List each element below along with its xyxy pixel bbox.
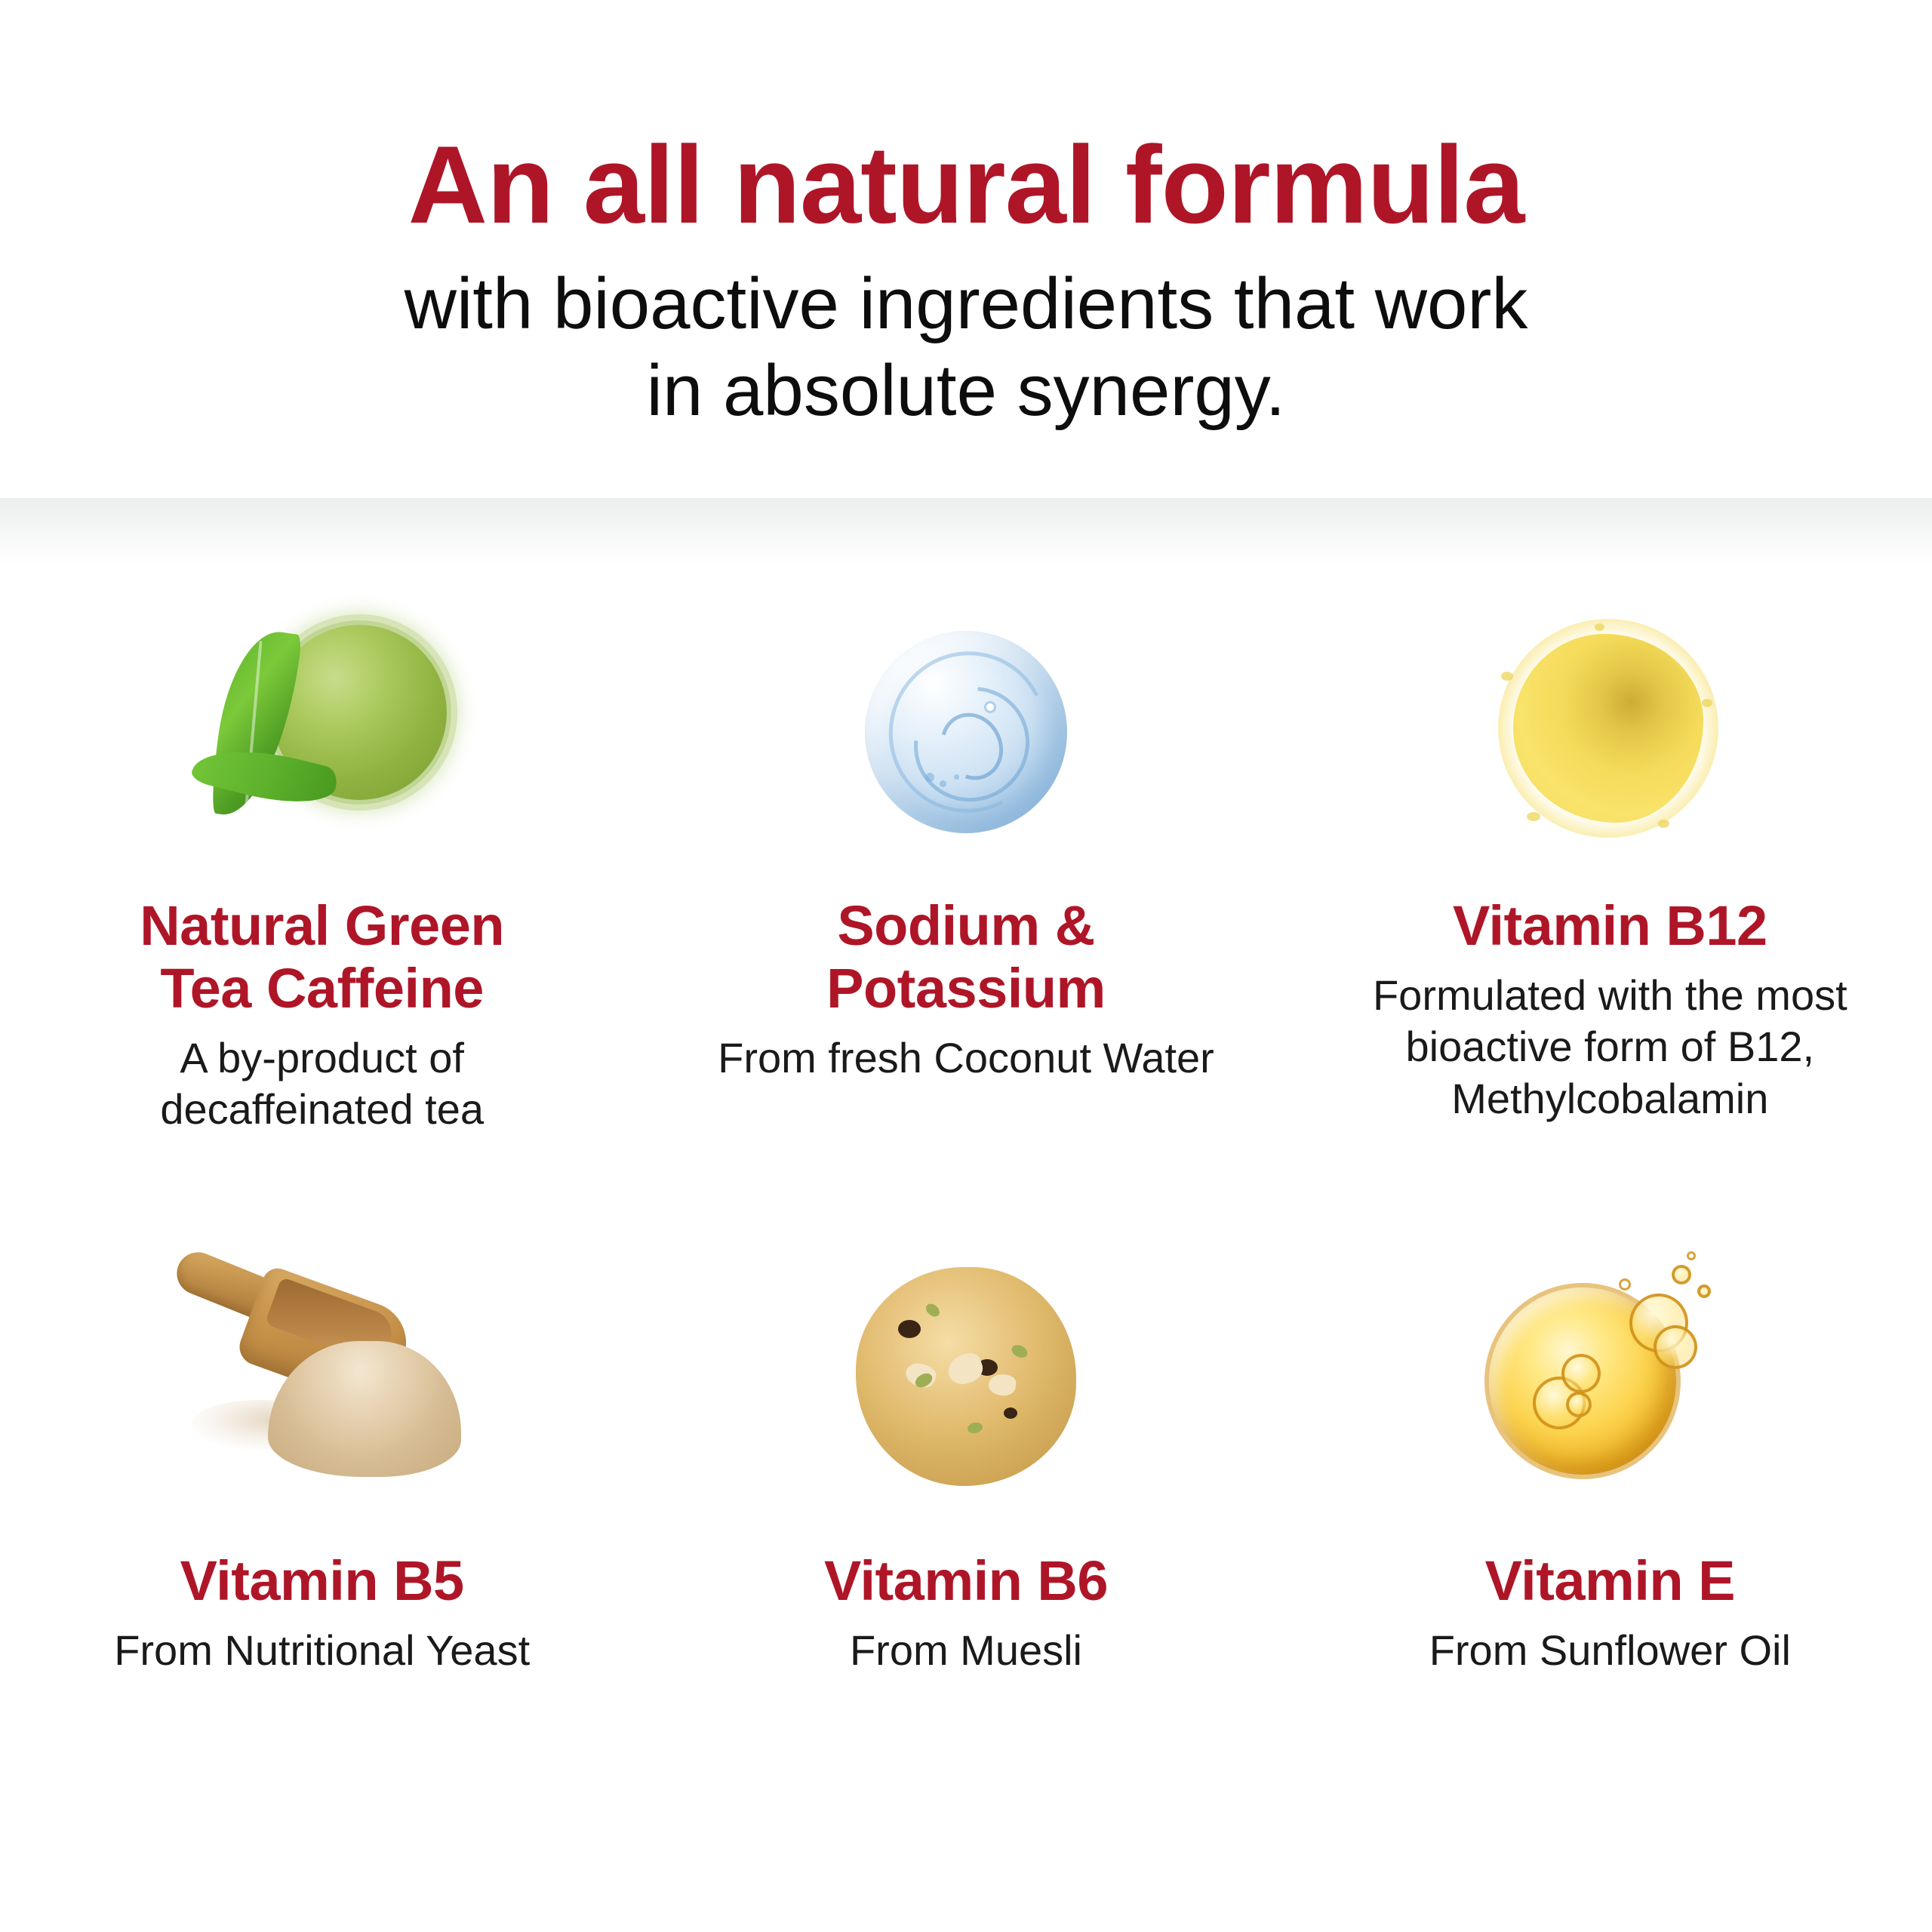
powder-speck	[1527, 812, 1540, 821]
oil-droplet-icon	[1398, 1226, 1821, 1527]
ingredient-card-green-tea: Natural Green Tea Caffeine A by-product …	[0, 589, 644, 1135]
description-line-1: From Nutritional Yeast	[114, 1626, 530, 1674]
oil-bubble-small	[1619, 1278, 1631, 1291]
page-title: An all natural formula	[408, 127, 1524, 244]
ingredient-title: Vitamin B12	[1453, 895, 1767, 958]
description-line-1: From fresh Coconut Water	[718, 1034, 1214, 1081]
description-line-1: Formulated with the most	[1373, 971, 1847, 1019]
water-droplet	[925, 773, 934, 782]
ingredient-card-vitamin-e: Vitamin E From Sunflower Oil	[1288, 1226, 1932, 1676]
title-line-1: Vitamin B12	[1453, 894, 1767, 957]
oil-bubble	[1654, 1325, 1697, 1369]
title-line-2: Tea Caffeine	[160, 957, 484, 1020]
title-line-1: Vitamin E	[1485, 1549, 1735, 1612]
ingredient-card-vitamin-b12: Vitamin B12 Formulated with the most bio…	[1288, 589, 1932, 1135]
description-line-2: decaffeinated tea	[160, 1085, 484, 1133]
ingredient-description: Formulated with the most bioactive form …	[1373, 970, 1847, 1124]
title-line-1: Vitamin B6	[824, 1549, 1108, 1612]
powder-speck	[1658, 820, 1669, 828]
muesli-icon	[755, 1226, 1177, 1527]
green-tea-powder-icon	[111, 589, 534, 875]
description-line-2: bioactive form of B12,	[1406, 1023, 1815, 1070]
description-line-1: From Muesli	[850, 1626, 1082, 1674]
ingredient-description: From Muesli	[850, 1625, 1082, 1676]
title-line-1: Vitamin B5	[180, 1549, 464, 1612]
yellow-powder-heap-shape	[1513, 634, 1703, 823]
ingredient-title: Vitamin B6	[824, 1550, 1108, 1613]
subtitle-line-2: in absolute synergy.	[405, 347, 1528, 434]
ingredient-title: Sodium & Potassium	[826, 895, 1106, 1020]
oil-bubble	[1697, 1284, 1711, 1298]
description-line-1: A by-product of	[180, 1034, 464, 1081]
title-line-2: Potassium	[826, 957, 1106, 1020]
water-sphere-icon	[755, 589, 1177, 875]
oil-bubble	[1672, 1265, 1691, 1284]
ingredient-card-vitamin-b5: Vitamin B5 From Nutritional Yeast	[0, 1226, 644, 1676]
page-subtitle: with bioactive ingredients that work in …	[405, 260, 1528, 434]
ingredient-infographic-page: An all natural formula with bioactive in…	[0, 0, 1932, 1932]
ingredient-description: A by-product of decaffeinated tea	[160, 1032, 484, 1136]
title-line-1: Sodium &	[837, 894, 1094, 957]
ingredient-title: Vitamin B5	[180, 1550, 464, 1613]
section-divider	[0, 498, 1932, 566]
title-line-1: Natural Green	[140, 894, 504, 957]
ingredient-description: From Sunflower Oil	[1429, 1625, 1791, 1676]
oil-bubble-small	[1687, 1251, 1696, 1260]
description-line-1: From Sunflower Oil	[1429, 1626, 1791, 1674]
wooden-scoop-yeast-icon	[111, 1226, 534, 1527]
yellow-powder-icon	[1398, 589, 1821, 875]
ingredient-card-vitamin-b6: Vitamin B6 From Muesli	[644, 1226, 1287, 1676]
ingredient-description: From fresh Coconut Water	[718, 1032, 1214, 1084]
ingredient-card-sodium-potassium: Sodium & Potassium From fresh Coconut Wa…	[644, 589, 1287, 1135]
subtitle-line-1: with bioactive ingredients that work	[405, 263, 1528, 344]
header-section: An all natural formula with bioactive in…	[0, 0, 1932, 498]
ingredient-title: Natural Green Tea Caffeine	[140, 895, 504, 1020]
ingredient-description: From Nutritional Yeast	[114, 1625, 530, 1676]
ingredient-grid: Natural Green Tea Caffeine A by-product …	[0, 589, 1932, 1677]
description-line-3: Methylcobalamin	[1451, 1075, 1768, 1122]
ingredient-title: Vitamin E	[1485, 1550, 1735, 1613]
